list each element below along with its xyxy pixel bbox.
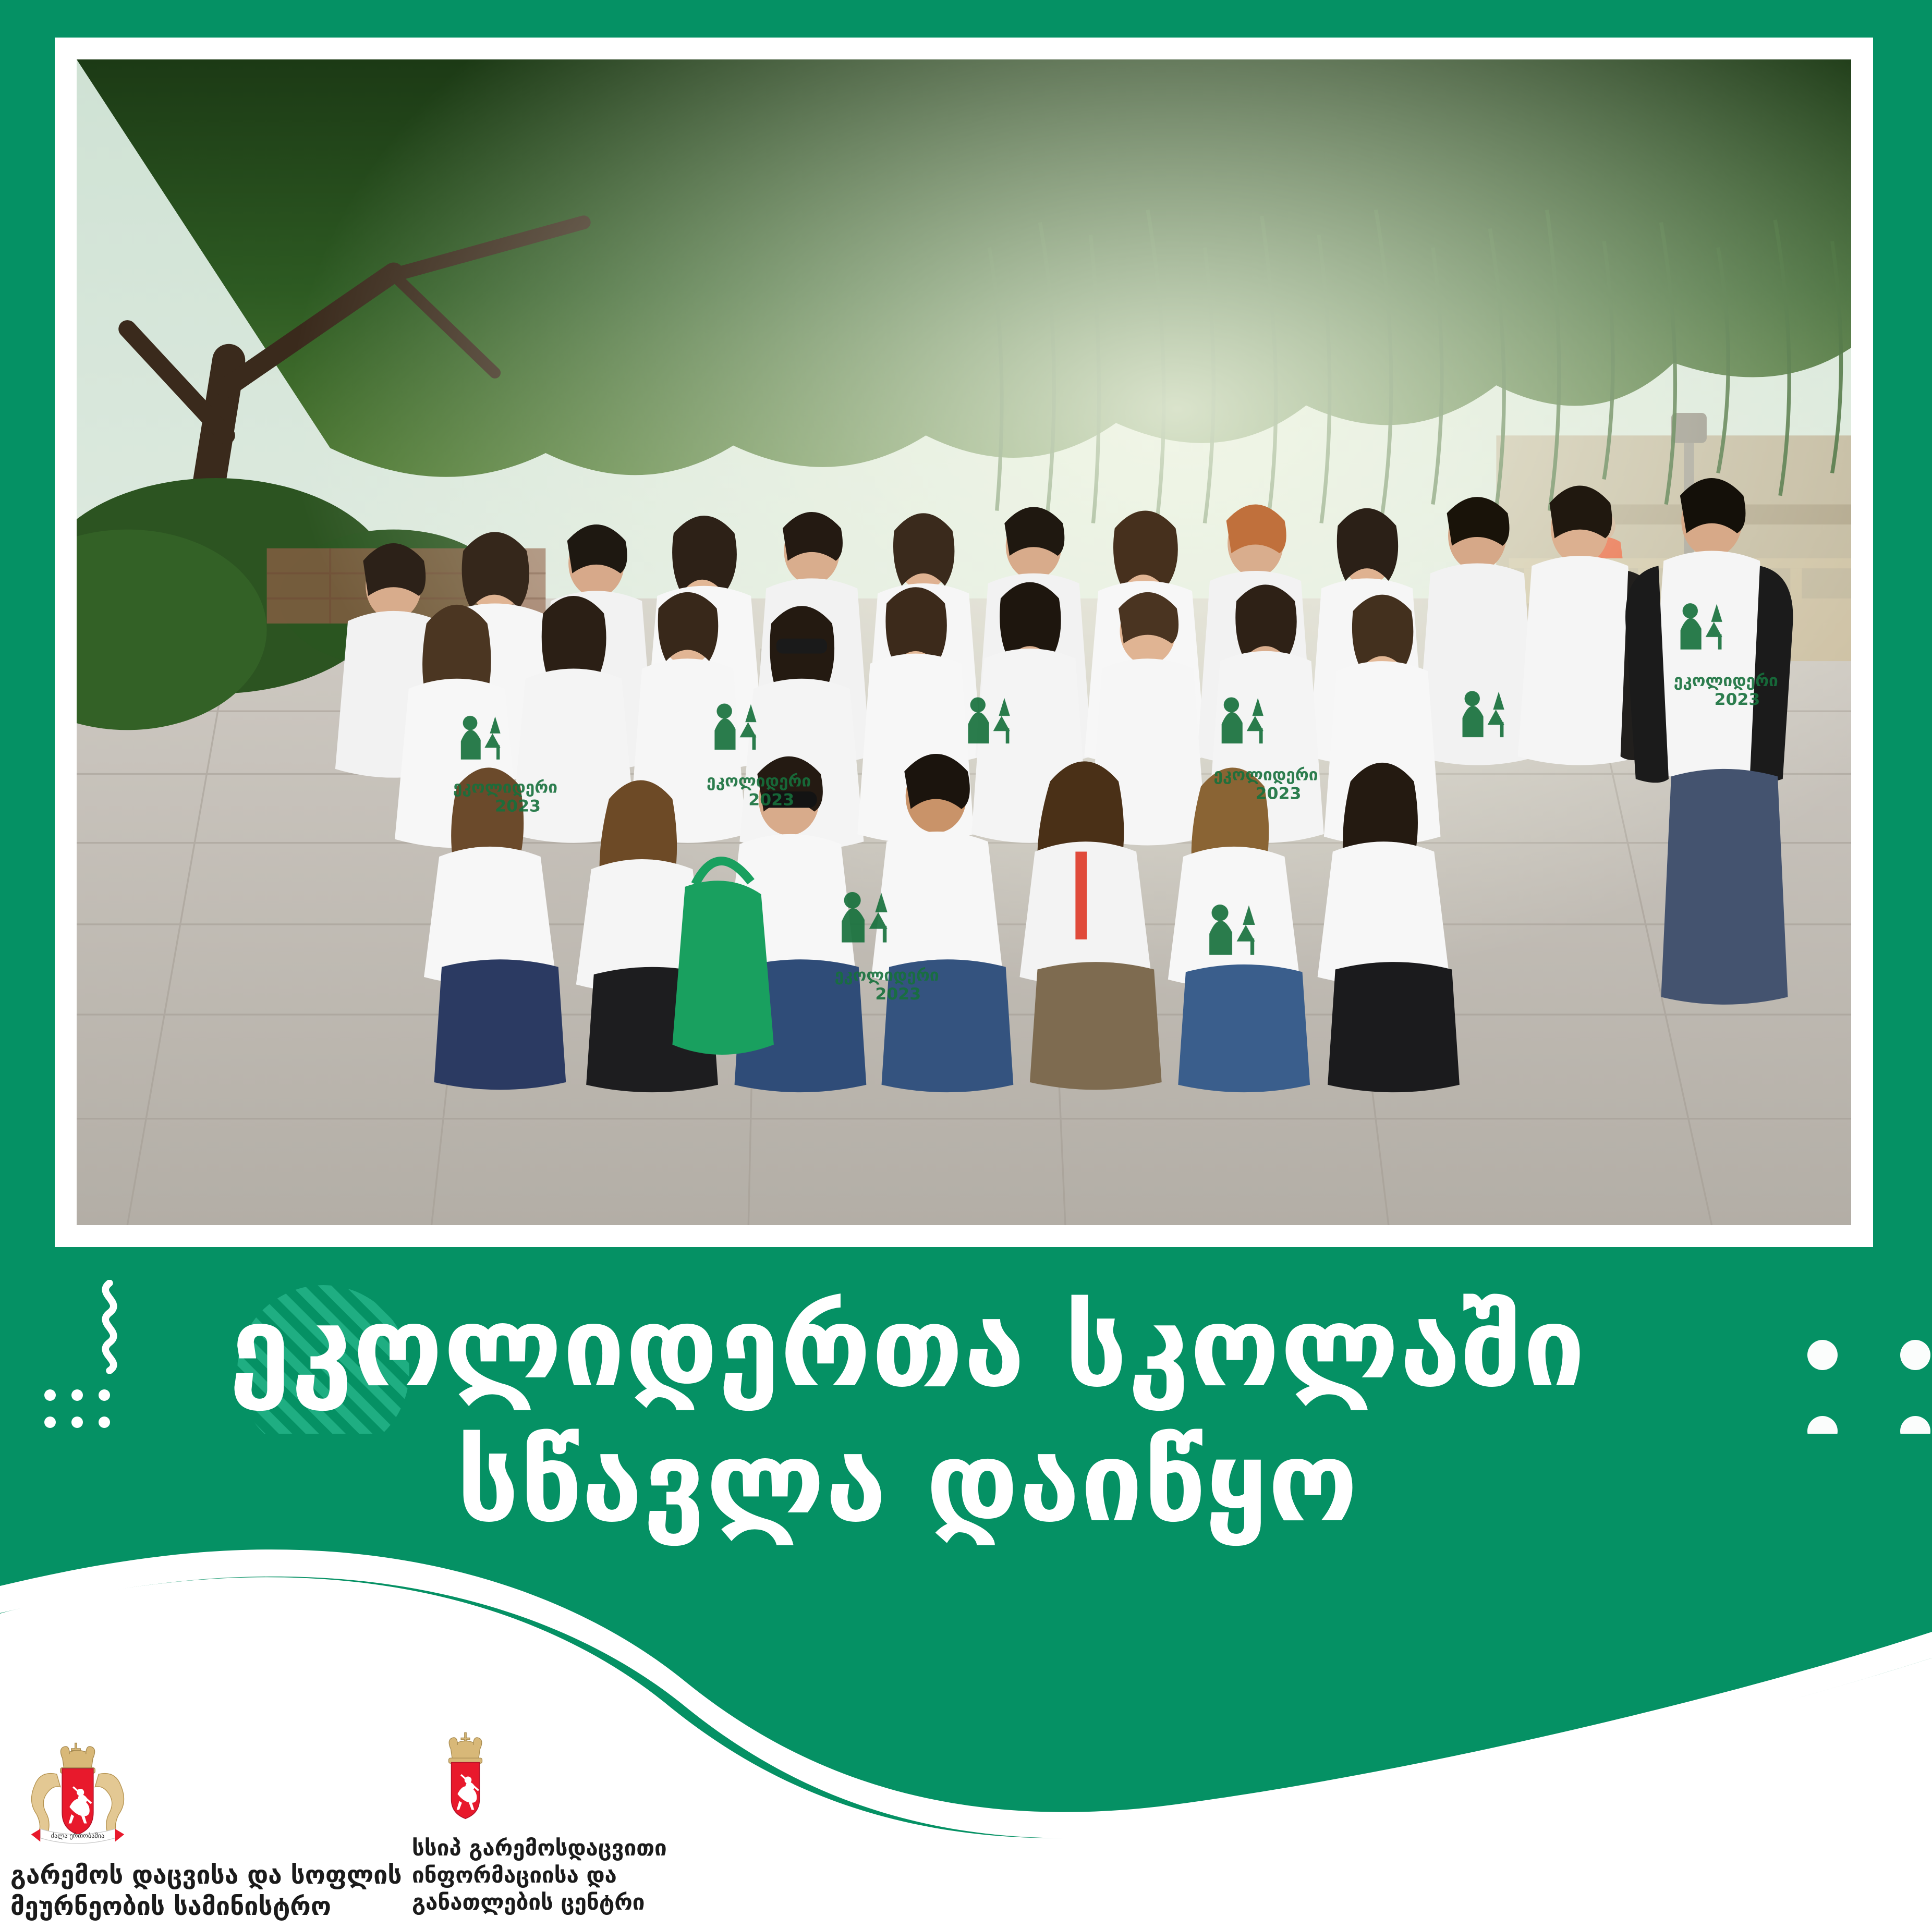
svg-text:ეკოლიდერი: ეკოლიდერი	[1674, 672, 1778, 690]
title-line-1: ეკოლიდერთა სკოლაში	[0, 1280, 1815, 1415]
ministry-name-line-2: მეურნეობის სამინისტრო	[10, 1891, 407, 1923]
ministry-name: გარემოს დაცვისა და სოფლის მეურნეობის სამ…	[10, 1860, 407, 1922]
svg-text:ეკოლიდერი: ეკოლიდერი	[1213, 766, 1318, 785]
svg-text:2023: 2023	[875, 985, 921, 1004]
svg-text:2023: 2023	[495, 797, 541, 816]
group-photo: ეკოლიდერი2023 ეკოლიდერი2023 ეკოლიდერი202…	[77, 59, 1851, 1225]
poster-title: ეკოლიდერთა სკოლაში სწავლა დაიწყო	[0, 1280, 1815, 1549]
svg-text:2023: 2023	[1256, 785, 1302, 803]
center-logo-block: სსიპ გარემოსდაცვითი ინფორმაციისა და განა…	[412, 1731, 746, 1916]
svg-text:ძალა ერთობაშია: ძალა ერთობაშია	[51, 1833, 105, 1840]
svg-text:2023: 2023	[748, 791, 794, 810]
photo-frame: ეკოლიდერი2023 ეკოლიდერი2023 ეკოლიდერი202…	[55, 38, 1873, 1247]
center-name-line-2: ინფორმაციისა და	[412, 1862, 746, 1889]
georgia-coat-of-arms-icon: ძალა ერთობაშია	[18, 1741, 138, 1851]
contact-info[interactable]: www.eiec.gov.ge | info@eiec.gov.ge	[1090, 1835, 1847, 1884]
ministry-logo-block: ძალა ერთობაშია გარემოს დაცვისა და სოფლის…	[10, 1741, 407, 1922]
poster-root: ეკოლიდერი2023 ეკოლიდერი2023 ეკოლიდერი202…	[0, 0, 1932, 1929]
center-name: სსიპ გარემოსდაცვითი ინფორმაციისა და განა…	[412, 1835, 746, 1916]
svg-text:ეკოლიდერი: ეკოლიდერი	[707, 772, 811, 791]
svg-text:2023: 2023	[1714, 690, 1760, 709]
georgia-small-crest-icon	[433, 1731, 498, 1827]
svg-text:ეკოლიდერი: ეკოლიდერი	[453, 778, 557, 797]
center-name-line-3: განათლების ცენტრი	[412, 1889, 746, 1916]
ministry-name-line-1: გარემოს დაცვისა და სოფლის	[10, 1860, 407, 1891]
svg-text:ეკოლიდერი: ეკოლიდერი	[835, 966, 939, 985]
center-name-line-1: სსიპ გარემოსდაცვითი	[412, 1835, 746, 1862]
title-line-2: სწავლა დაიწყო	[0, 1415, 1815, 1550]
